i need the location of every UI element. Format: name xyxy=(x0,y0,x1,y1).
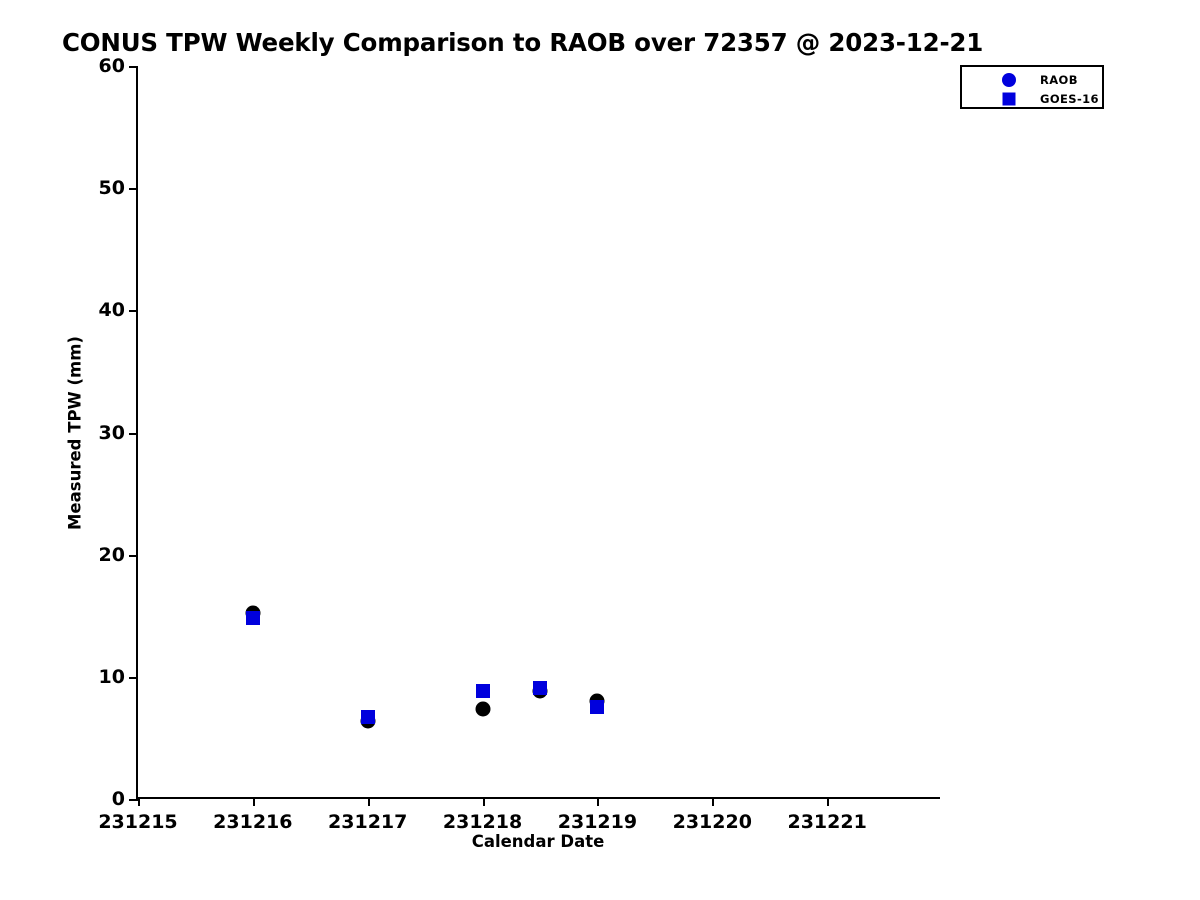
data-point-goes-16 xyxy=(533,681,547,695)
y-tick-mark xyxy=(129,66,138,68)
y-tick-mark xyxy=(129,677,138,679)
page-title: CONUS TPW Weekly Comparison to RAOB over… xyxy=(62,28,983,57)
data-points-layer xyxy=(138,66,940,797)
y-tick-mark xyxy=(129,433,138,435)
y-tick-mark xyxy=(129,188,138,190)
x-tick-label: 231218 xyxy=(443,811,522,833)
y-tick-label: 10 xyxy=(99,666,125,688)
y-tick-label: 20 xyxy=(99,544,125,566)
y-tick-mark xyxy=(129,555,138,557)
x-tick-mark xyxy=(253,797,255,806)
data-point-goes-16 xyxy=(361,710,375,724)
y-tick-label: 60 xyxy=(99,55,125,77)
y-tick-label: 50 xyxy=(99,177,125,199)
y-tick-mark xyxy=(129,310,138,312)
x-tick-label: 231217 xyxy=(328,811,407,833)
x-tick-label: 231215 xyxy=(98,811,177,833)
y-axis-label: Measured TPW (mm) xyxy=(66,336,85,530)
chart-legend: RAOBGOES-16 xyxy=(960,65,1104,109)
data-point-goes-16 xyxy=(590,700,604,714)
y-tick-label: 30 xyxy=(99,422,125,444)
data-point-goes-16 xyxy=(246,611,260,625)
x-tick-label: 231216 xyxy=(213,811,292,833)
y-tick-label: 0 xyxy=(112,788,125,810)
square-marker-icon xyxy=(1003,93,1016,106)
y-tick-mark xyxy=(129,799,138,801)
legend-label: GOES-16 xyxy=(1040,92,1099,106)
x-tick-label: 231221 xyxy=(787,811,866,833)
circle-marker-icon xyxy=(1002,73,1016,87)
x-tick-label: 231219 xyxy=(558,811,637,833)
data-point-goes-16 xyxy=(476,684,490,698)
legend-label: RAOB xyxy=(1040,73,1078,87)
x-tick-mark xyxy=(827,797,829,806)
x-axis-label: Calendar Date xyxy=(472,832,605,851)
plot-area: 0102030405060 23121523121623121723121823… xyxy=(136,66,940,799)
x-tick-mark xyxy=(597,797,599,806)
x-tick-mark xyxy=(712,797,714,806)
data-point-raob xyxy=(475,701,490,716)
y-tick-label: 40 xyxy=(99,299,125,321)
x-tick-mark xyxy=(138,797,140,806)
chart-figure: CONUS TPW Weekly Comparison to RAOB over… xyxy=(0,0,1200,900)
legend-item-goes-16[interactable]: GOES-16 xyxy=(962,89,1102,109)
x-tick-mark xyxy=(483,797,485,806)
legend-item-raob[interactable]: RAOB xyxy=(962,70,1102,90)
x-tick-mark xyxy=(368,797,370,806)
x-tick-label: 231220 xyxy=(673,811,752,833)
